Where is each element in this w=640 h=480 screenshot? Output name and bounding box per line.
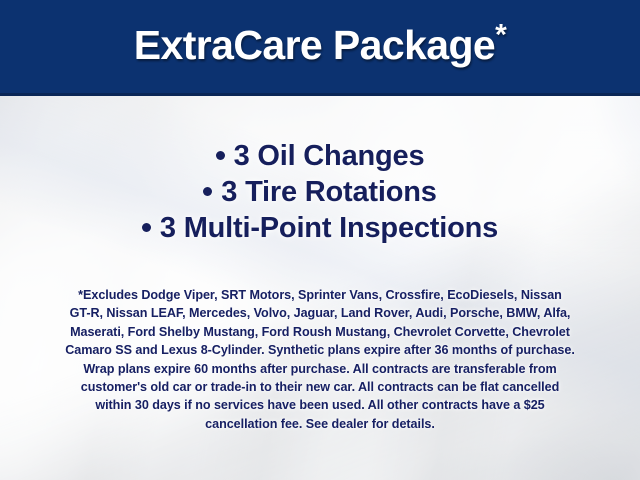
list-item: 3 Multi-Point Inspections — [0, 210, 640, 246]
list-item: 3 Oil Changes — [0, 138, 640, 174]
disclaimer-line: cancellation fee. See dealer for details… — [28, 415, 612, 433]
page-title-asterisk: * — [495, 18, 506, 51]
disclaimer-line: Maserati, Ford Shelby Mustang, Ford Rous… — [28, 323, 612, 341]
disclaimer-line: *Excludes Dodge Viper, SRT Motors, Sprin… — [28, 286, 612, 304]
benefit-label: 3 Oil Changes — [234, 140, 425, 172]
disclaimer-line: Wrap plans expire 60 months after purcha… — [28, 360, 612, 378]
disclaimer-line: within 30 days if no services have been … — [28, 396, 612, 414]
disclaimer-line: customer's old car or trade-in to their … — [28, 378, 612, 396]
list-item: 3 Tire Rotations — [0, 174, 640, 210]
bullet-dot-icon — [203, 187, 212, 196]
extracare-package-promo-card: ExtraCare Package* 3 Oil Changes 3 Tire … — [0, 0, 640, 480]
header-banner: ExtraCare Package* — [0, 0, 640, 93]
disclaimer-text: *Excludes Dodge Viper, SRT Motors, Sprin… — [28, 286, 612, 433]
header-bottom-rule — [0, 93, 640, 96]
page-title-text: ExtraCare Package — [134, 22, 495, 68]
disclaimer-line: GT-R, Nissan LEAF, Mercedes, Volvo, Jagu… — [28, 304, 612, 322]
disclaimer-line: Camaro SS and Lexus 8-Cylinder. Syntheti… — [28, 341, 612, 359]
page-title: ExtraCare Package* — [134, 25, 506, 68]
bullet-dot-icon — [142, 223, 151, 232]
benefit-label: 3 Multi-Point Inspections — [160, 212, 498, 244]
benefit-label: 3 Tire Rotations — [221, 176, 436, 208]
bullet-dot-icon — [216, 151, 225, 160]
benefits-list: 3 Oil Changes 3 Tire Rotations 3 Multi-P… — [0, 138, 640, 246]
